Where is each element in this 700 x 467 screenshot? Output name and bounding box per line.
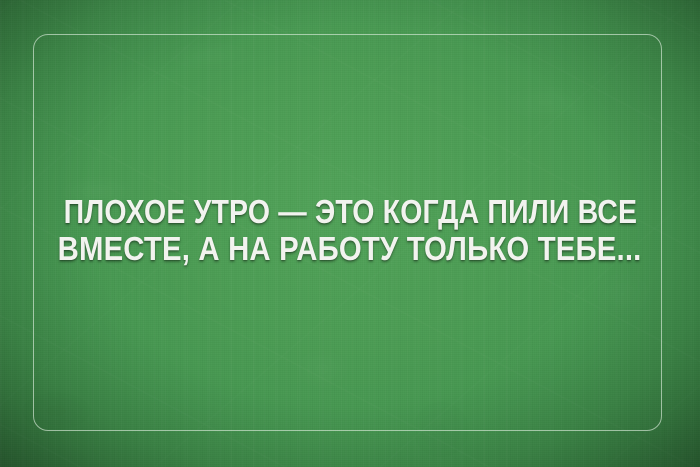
poster-image: ПЛОХОЕ УТРО — ЭТО КОГДА ПИЛИ ВСЕ ВМЕСТЕ,… bbox=[0, 0, 700, 467]
caption-line-2: ВМЕСТЕ, А НА РАБОТУ ТОЛЬКО ТЕБЕ... bbox=[58, 230, 642, 267]
caption-text: ПЛОХОЕ УТРО — ЭТО КОГДА ПИЛИ ВСЕ ВМЕСТЕ,… bbox=[0, 193, 700, 267]
caption-line-1: ПЛОХОЕ УТРО — ЭТО КОГДА ПИЛИ ВСЕ bbox=[63, 193, 637, 230]
